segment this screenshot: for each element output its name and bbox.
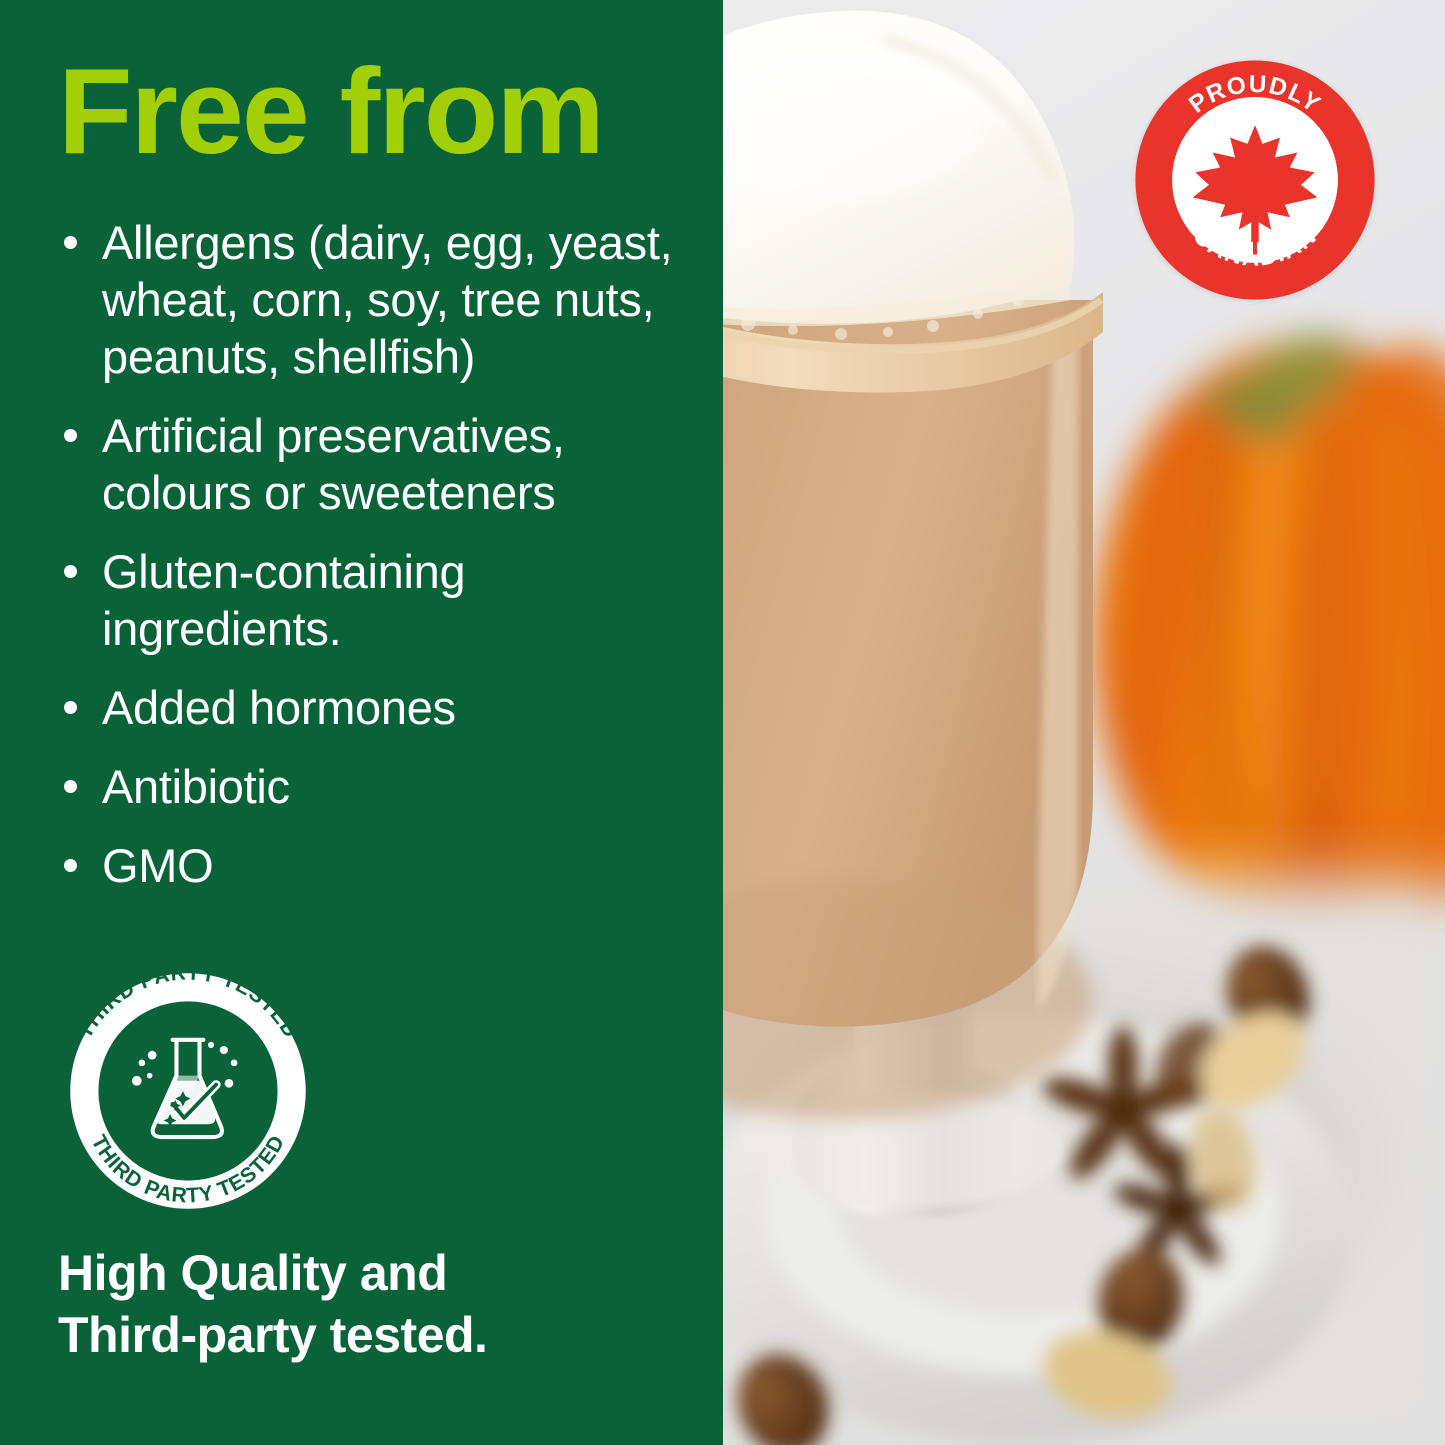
list-item: GMO: [56, 837, 696, 894]
product-marketing-card: PROUDLY CANADIAN Free from Allergens (da…: [0, 0, 1445, 1445]
bullet-dot-icon: [64, 565, 77, 578]
maple-leaf-icon: PROUDLY CANADIAN: [1133, 58, 1377, 302]
caption-line-1: High Quality and: [58, 1242, 487, 1304]
list-item-label: Added hormones: [102, 681, 456, 734]
bullet-dot-icon: [64, 701, 77, 714]
list-item-label: Antibiotic: [102, 760, 290, 813]
bullet-dot-icon: [64, 859, 77, 872]
list-item: Antibiotic: [56, 758, 696, 815]
list-item: Gluten-containing ingredients.: [56, 543, 696, 657]
third-party-tested-badge: THIRD PARTY TESTED THIRD PARTY TESTED: [60, 963, 316, 1219]
list-item: Allergens (dairy, egg, yeast, wheat, cor…: [56, 214, 696, 385]
bullet-dot-icon: [64, 780, 77, 793]
proudly-canadian-badge: PROUDLY CANADIAN: [1133, 58, 1377, 302]
bullet-dot-icon: [64, 236, 77, 249]
list-item-label: Artificial preservatives, colours or swe…: [102, 409, 565, 519]
free-from-list: Allergens (dairy, egg, yeast, wheat, cor…: [56, 214, 696, 916]
list-item-label: GMO: [102, 839, 213, 892]
quality-caption: High Quality and Third-party tested.: [58, 1242, 487, 1366]
flask-check-icon: THIRD PARTY TESTED THIRD PARTY TESTED: [60, 963, 316, 1219]
free-from-panel: Free from Allergens (dairy, egg, yeast, …: [0, 0, 723, 1445]
list-item: Added hormones: [56, 679, 696, 736]
list-item-label: Gluten-containing ingredients.: [102, 545, 465, 655]
bullet-dot-icon: [64, 429, 77, 442]
page-title: Free from: [58, 50, 603, 172]
list-item: Artificial preservatives, colours or swe…: [56, 407, 696, 521]
list-item-label: Allergens (dairy, egg, yeast, wheat, cor…: [102, 216, 672, 383]
caption-line-2: Third-party tested.: [58, 1304, 487, 1366]
